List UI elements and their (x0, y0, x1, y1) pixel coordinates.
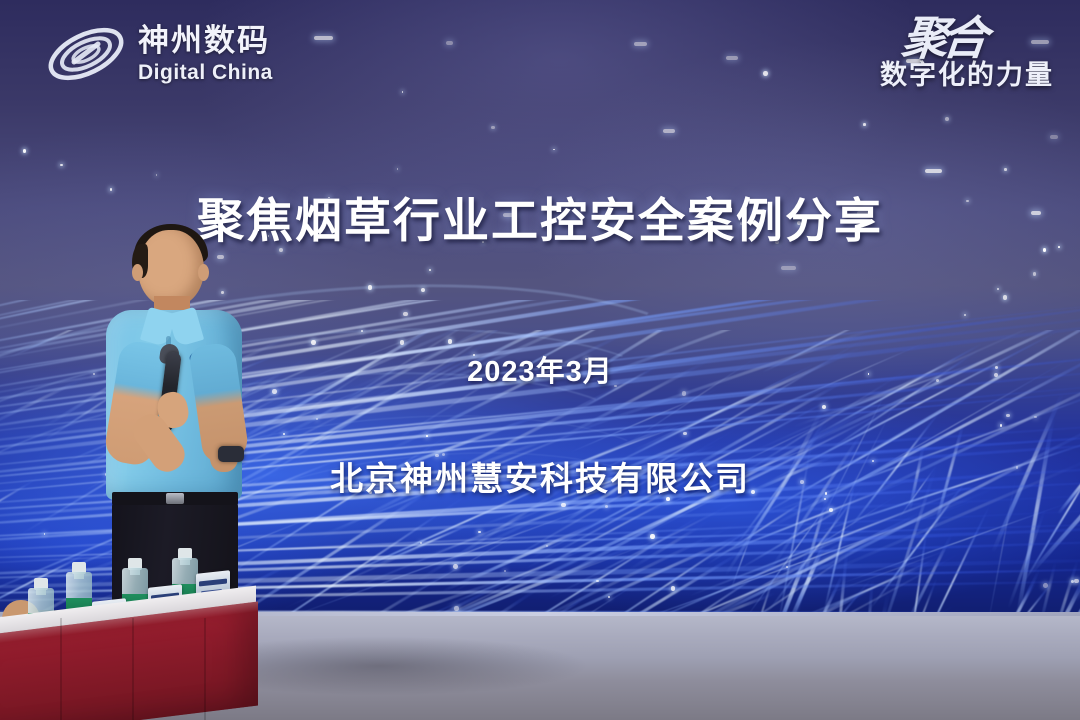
light-particle (426, 435, 428, 437)
light-particle (650, 534, 654, 538)
light-particle (23, 149, 27, 153)
digital-china-logo: 神州数码 Digital China (44, 22, 273, 86)
light-particle (361, 330, 363, 332)
light-particle (283, 433, 285, 435)
light-particle (945, 117, 949, 121)
light-particle (491, 126, 495, 130)
light-particle (682, 391, 686, 395)
light-particle (400, 340, 405, 345)
table-skirt-fold (60, 618, 62, 720)
light-spark (663, 129, 675, 133)
light-spark (446, 41, 453, 45)
light-particle (60, 164, 62, 166)
light-spark (634, 42, 647, 46)
event-logo: 聚合 数字化的力量 (880, 16, 1054, 89)
presentation-clicker (218, 446, 244, 462)
light-particle (561, 503, 566, 508)
conference-table (0, 588, 270, 720)
brand-name-cn: 神州数码 (138, 25, 273, 56)
light-particle (316, 418, 317, 419)
light-particle (454, 606, 458, 610)
light-particle (1043, 583, 1048, 588)
light-particle (786, 566, 788, 568)
presenter-belt-buckle (166, 493, 184, 504)
light-particle (683, 432, 687, 436)
event-logo-mark: 聚合 (878, 16, 985, 62)
light-spark (314, 36, 333, 40)
light-particle (397, 168, 398, 169)
digital-china-wordmark: 神州数码 Digital China (138, 25, 273, 83)
light-particle (453, 564, 458, 569)
presenter-ear (198, 264, 209, 281)
light-particle (1000, 424, 1003, 427)
light-particle (403, 312, 408, 317)
light-particle (1033, 272, 1036, 275)
swirl-logo-icon (44, 22, 128, 86)
light-particle (863, 123, 866, 126)
light-particle (1003, 295, 1007, 299)
presenter-ear (132, 264, 143, 281)
light-spark (925, 169, 942, 173)
light-particle (311, 340, 316, 345)
table-skirt-fold (132, 618, 134, 720)
placard-text-line (199, 579, 226, 587)
light-particle (964, 314, 966, 316)
table-skirt-fold (204, 618, 206, 720)
light-spark (781, 266, 796, 270)
light-particle (763, 71, 768, 76)
light-spark (726, 56, 738, 60)
light-particle (421, 288, 425, 292)
brand-name-en: Digital China (138, 62, 273, 83)
light-particle (1006, 414, 1010, 418)
conference-photo: 神州数码 Digital China 聚合 数字化的力量 聚焦烟草行业工控安全案… (0, 0, 1080, 720)
event-logo-subtitle: 数字化的力量 (880, 60, 1054, 90)
light-particle (1074, 579, 1079, 584)
light-particle (368, 285, 372, 289)
light-particle (1004, 168, 1007, 171)
light-spark (1050, 135, 1058, 139)
light-particle (504, 570, 506, 572)
